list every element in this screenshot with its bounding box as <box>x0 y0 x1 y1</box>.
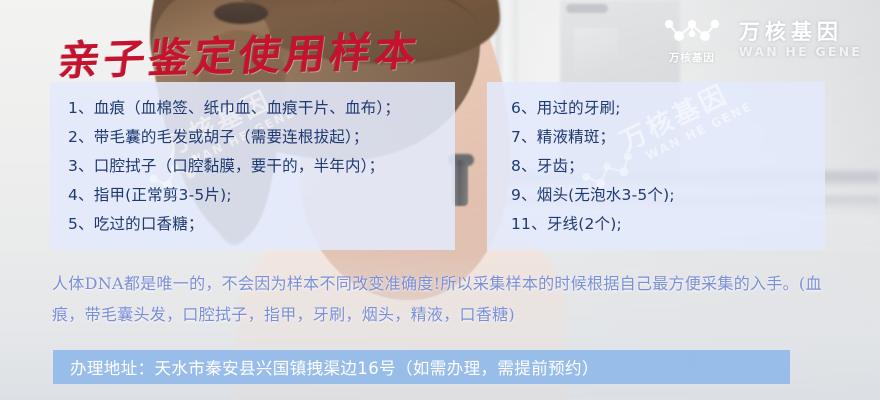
brand-name-en: WAN HE GENE <box>739 46 862 59</box>
sample-list-panel-right: 万核基因 WAN HE GENE 6、 <box>487 82 825 250</box>
list-item: 8、牙齿； <box>511 152 825 181</box>
brand-logo-mark: 万核基因 <box>661 16 723 65</box>
list-item: 5、吃过的口香糖； <box>68 210 455 239</box>
description-paragraph: 人体DNA都是唯一的，不会因为样本不同改变准确度!所以采集样本的时候根据自己最方… <box>52 268 842 330</box>
list-item: 7、精液精斑； <box>511 123 825 152</box>
brand-logo: 万核基因 万核基因 WAN HE GENE <box>661 16 862 65</box>
list-item: 9、烟头(无泡水3-5个); <box>511 181 825 210</box>
list-item: 11、牙线(2个); <box>511 210 825 239</box>
page-title: 亲子鉴定使用样本 <box>55 17 424 87</box>
list-item: 3、口腔拭子（口腔黏膜，要干的，半年内）； <box>68 152 455 181</box>
address-bar: 办理地址：天水市秦安县兴国镇拽渠边16号（如需办理，需提前预约） <box>53 350 790 384</box>
sample-list-left: 1、血痕（血棉签、纸巾血、血痕干片、血布）； 2、带毛囊的毛发或胡子（需要连根拔… <box>50 82 455 239</box>
list-item: 6、用过的牙刷; <box>511 94 825 123</box>
brand-name-cn: 万核基因 <box>739 22 862 43</box>
molecule-network-icon <box>661 16 723 46</box>
list-item: 1、血痕（血棉签、纸巾血、血痕干片、血布）； <box>68 94 455 123</box>
sample-list-panel-left: 万核基因 WAN HE GENE 1、 <box>50 82 455 250</box>
address-bar-text: 办理地址：天水市秦安县兴国镇拽渠边16号（如需办理，需提前预约） <box>53 355 599 379</box>
sample-list-right: 6、用过的牙刷; 7、精液精斑； 8、牙齿； 9、烟头(无泡水3-5个); 11… <box>487 82 825 239</box>
brand-mark-label: 万核基因 <box>669 50 715 65</box>
brand-wordmark: 万核基因 WAN HE GENE <box>739 22 862 59</box>
list-item: 2、带毛囊的毛发或胡子（需要连根拔起）； <box>68 123 455 152</box>
poster-canvas: 亲子鉴定使用样本 <box>0 0 880 400</box>
list-item: 4、指甲(正常剪3-5片); <box>68 181 455 210</box>
